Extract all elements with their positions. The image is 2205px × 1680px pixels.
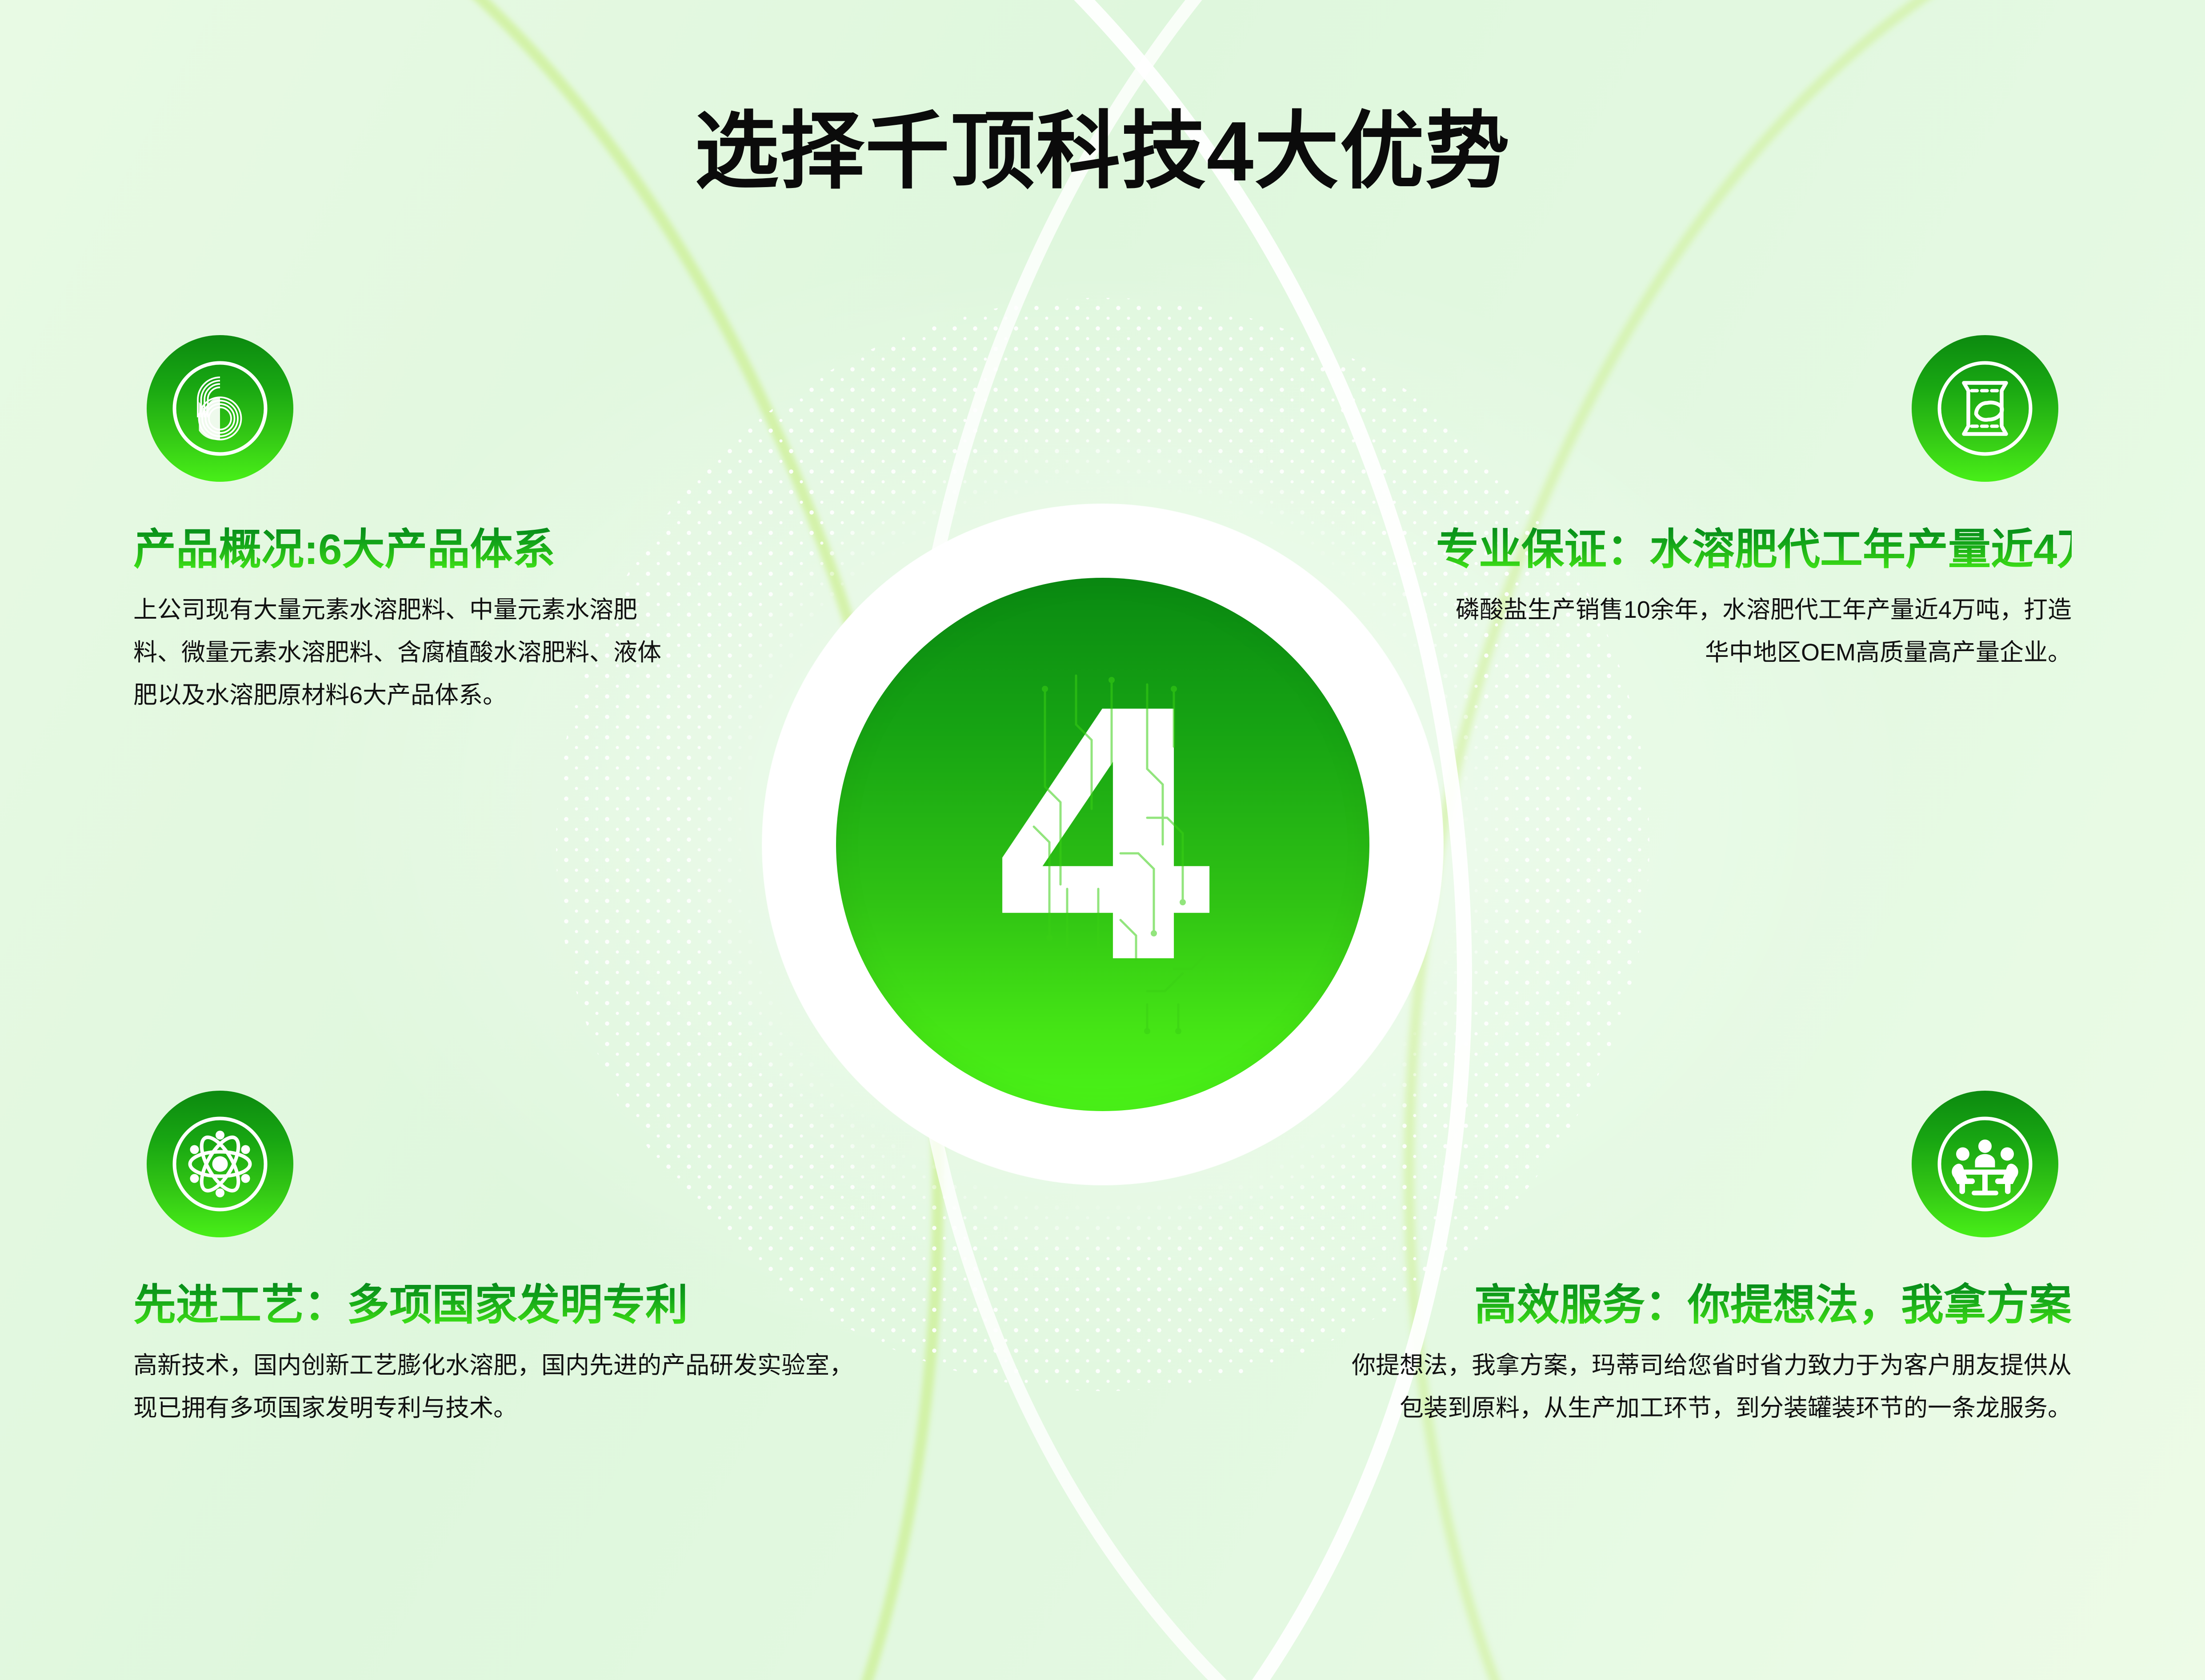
feature-body-process: 高新技术，国内创新工艺膨化水溶肥，国内先进的产品研发实验室，现已拥有多项国家发明… xyxy=(133,1344,871,1429)
center-disc: 4 xyxy=(836,578,1369,1111)
center-number: 4 xyxy=(987,669,1218,1011)
fertilizer-bag-icon xyxy=(1912,335,2058,482)
poster-canvas: 选择千顶科技4大优势 4 xyxy=(0,0,2205,1680)
feature-title-process: 先进工艺：多项国家发明专利 xyxy=(133,1282,871,1329)
feature-block-quality: 专业保证：水溶肥代工年产量近4万吨 磷酸盐生产销售10余年，水溶肥代工年产量近4… xyxy=(1436,526,2072,674)
meeting-team-icon xyxy=(1912,1091,2058,1237)
feature-title-product: 产品概况:6大产品体系 xyxy=(133,526,680,573)
feature-block-process: 先进工艺：多项国家发明专利 高新技术，国内创新工艺膨化水溶肥，国内先进的产品研发… xyxy=(133,1282,871,1429)
atom-icon xyxy=(147,1091,293,1237)
feature-body-service: 你提想法，我拿方案，玛蒂司给您省时省力致力于为客户朋友提供从包装到原料，从生产加… xyxy=(1334,1344,2072,1429)
feature-title-service: 高效服务：你提想法，我拿方案 xyxy=(1334,1282,2072,1329)
feature-body-product: 上公司现有大量元素水溶肥料、中量元素水溶肥料、微量元素水溶肥料、含腐植酸水溶肥料… xyxy=(133,588,680,716)
feature-title-quality: 专业保证：水溶肥代工年产量近4万吨 xyxy=(1436,526,2072,573)
number-six-badge-icon xyxy=(147,335,293,482)
feature-block-product: 产品概况:6大产品体系 上公司现有大量元素水溶肥料、中量元素水溶肥料、微量元素水… xyxy=(133,526,680,716)
center-medallion: 4 xyxy=(556,298,1649,1391)
feature-block-service: 高效服务：你提想法，我拿方案 你提想法，我拿方案，玛蒂司给您省时省力致力于为客户… xyxy=(1334,1282,2072,1429)
page-title: 选择千顶科技4大优势 xyxy=(0,109,2205,194)
feature-body-quality: 磷酸盐生产销售10余年，水溶肥代工年产量近4万吨，打造华中地区OEM高质量高产量… xyxy=(1436,588,2072,674)
